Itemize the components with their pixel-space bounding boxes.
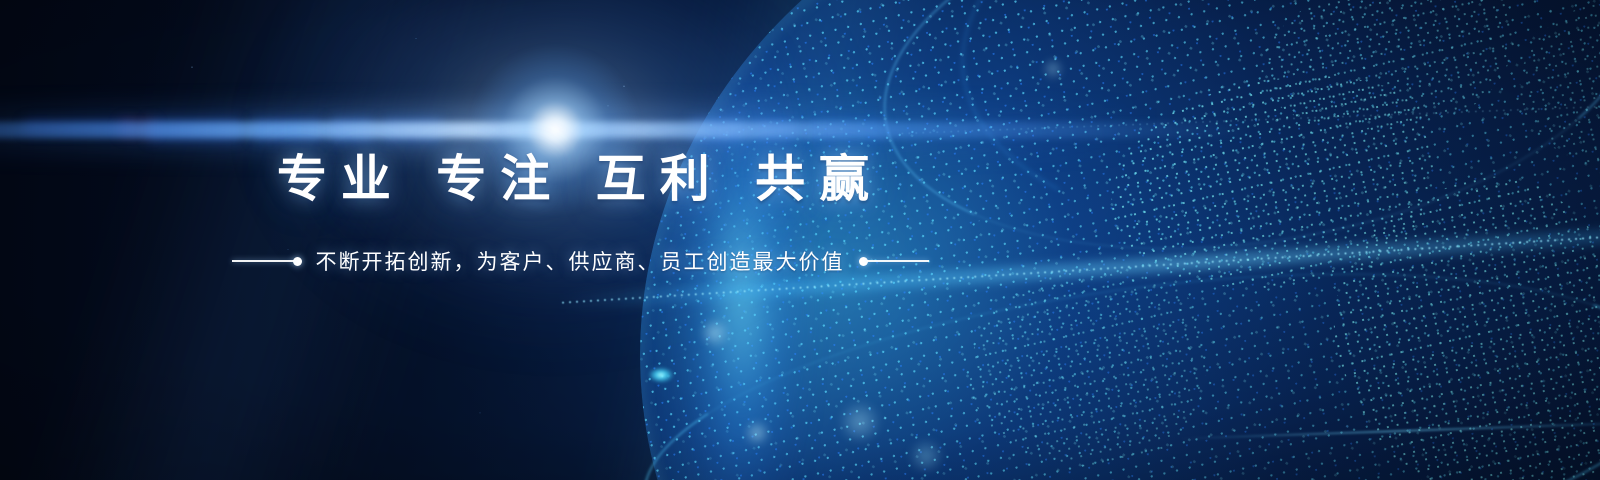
line-dot-ornament-left-icon <box>232 257 302 266</box>
page-title: 专业 专注 互利 共赢 <box>0 152 1160 207</box>
ornament-dot <box>293 257 302 266</box>
ornament-line <box>867 260 929 262</box>
subtitle-row: 不断开拓创新，为客户、供应商、员工创造最大价值 <box>0 246 1160 276</box>
hero-banner: 专业 专注 互利 共赢 不断开拓创新，为客户、供应商、员工创造最大价值 <box>0 0 1600 480</box>
banner-content: 专业 专注 互利 共赢 不断开拓创新，为客户、供应商、员工创造最大价值 <box>0 0 1600 480</box>
page-subtitle: 不断开拓创新，为客户、供应商、员工创造最大价值 <box>316 246 845 276</box>
dot-line-ornament-right-icon <box>859 257 929 266</box>
ornament-line <box>232 260 294 262</box>
